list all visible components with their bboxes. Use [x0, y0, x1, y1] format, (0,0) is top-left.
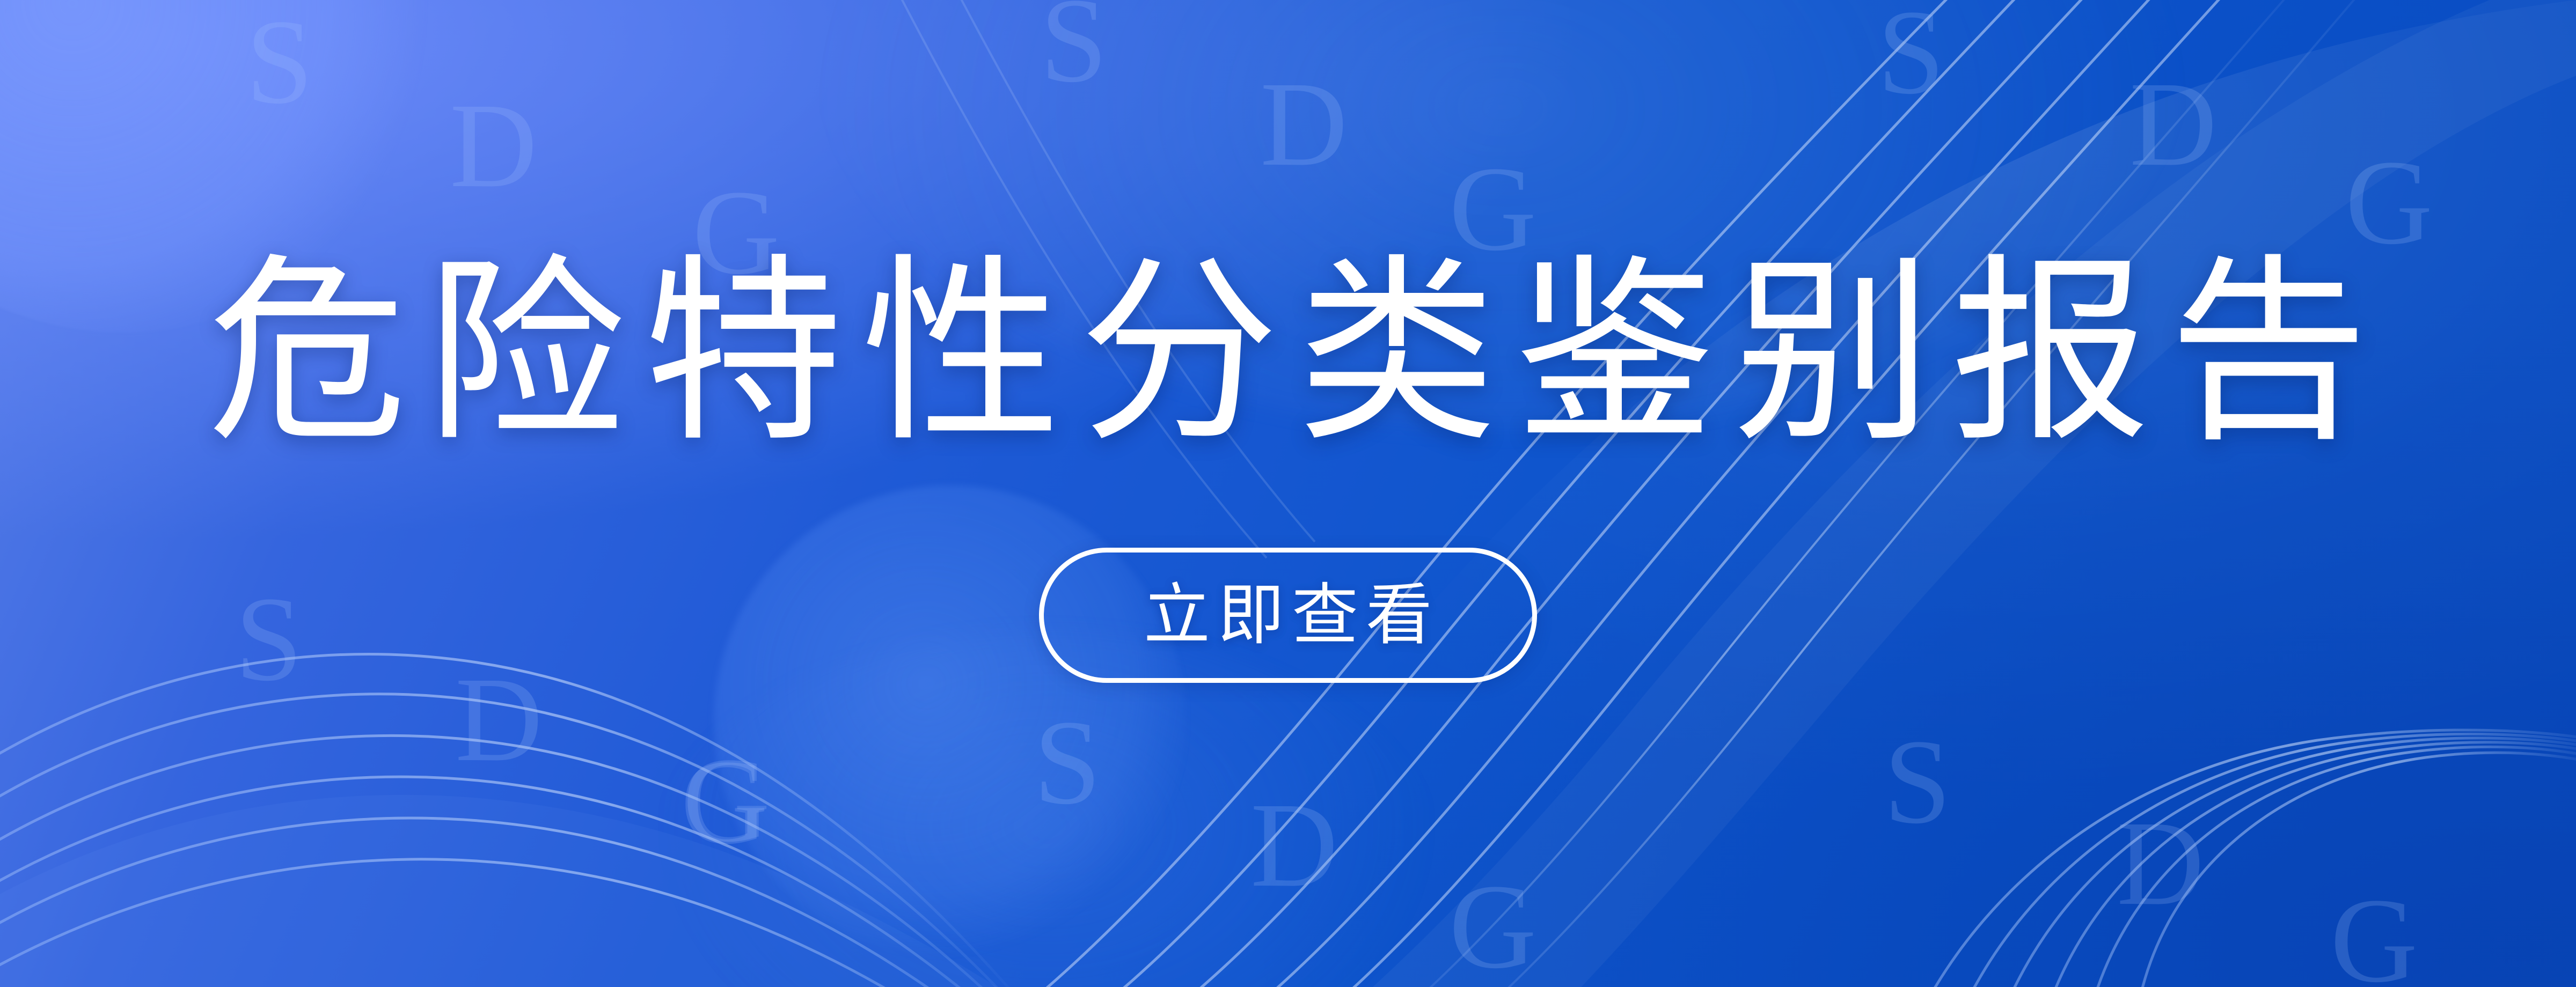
banner-content: 危险特性分类鉴别报告 立即查看: [0, 0, 2576, 987]
hero-banner: SDGSDGSDGSDGGSDGSDG 危险特性分类鉴别报告 立即查看: [0, 0, 2576, 987]
view-now-button[interactable]: 立即查看: [1039, 548, 1537, 683]
page-title: 危险特性分类鉴别报告: [189, 253, 2387, 452]
view-now-button-label: 立即查看: [1136, 582, 1440, 649]
